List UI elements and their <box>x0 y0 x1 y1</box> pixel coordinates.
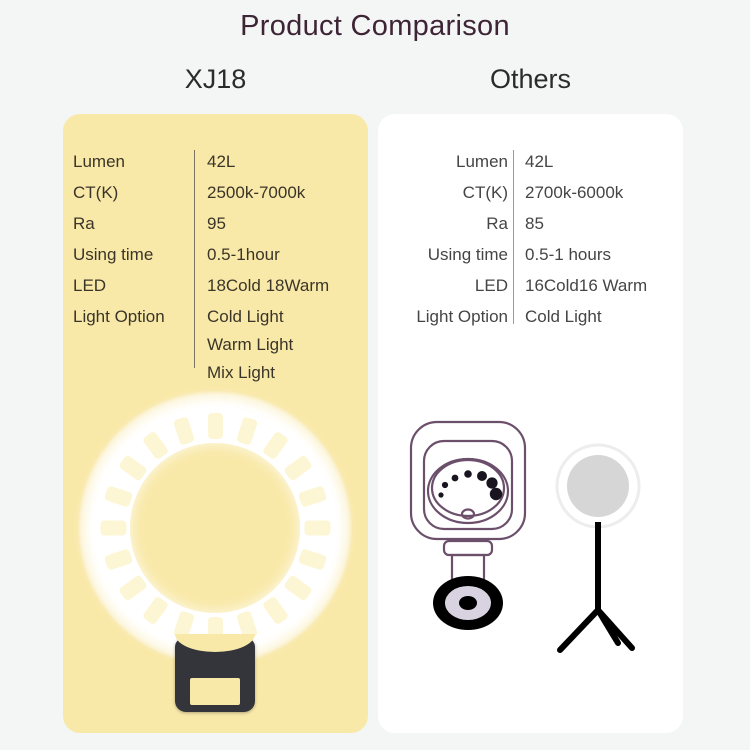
spec-row: LED 18Cold 18Warm <box>63 272 368 300</box>
phone-clip <box>175 638 255 712</box>
panel-others: Lumen 42L CT(K) 2700k-6000k Ra 85 Using … <box>378 114 683 733</box>
page-title: Product Comparison <box>0 10 750 43</box>
spec-value: 42L <box>508 148 553 176</box>
spec-row: Ra 95 <box>63 210 368 238</box>
spec-value: 0.5-1hour <box>193 241 280 269</box>
spec-label: CT(K) <box>378 179 508 207</box>
spec-label: Using time <box>378 241 508 269</box>
ring-inner-window <box>130 443 300 613</box>
spec-label: Lumen <box>63 148 193 176</box>
spec-value: Cold Light <box>508 303 602 331</box>
spec-value: 2500k-7000k <box>193 179 305 207</box>
spec-label: LED <box>63 272 193 300</box>
spec-label: Ra <box>63 210 193 238</box>
spec-value: 18Cold 18Warm <box>193 272 329 300</box>
spec-row: LED 16Cold16 Warm <box>378 272 683 300</box>
spec-value: 2700k-6000k <box>508 179 623 207</box>
spec-value: 95 <box>193 210 226 238</box>
panel-xj18: Lumen 42L CT(K) 2500k-7000k Ra 95 Using … <box>63 114 368 733</box>
spec-row: Lumen 42L <box>63 148 368 176</box>
led-segment <box>208 413 223 439</box>
ring-light-product-image <box>79 392 351 664</box>
spec-value: 0.5-1 hours <box>508 241 611 269</box>
spec-value: 16Cold16 Warm <box>508 272 647 300</box>
spec-row: CT(K) 2700k-6000k <box>378 179 683 207</box>
spec-row: Light Option Cold Light Warm Light Mix L… <box>63 303 368 387</box>
spec-label: Using time <box>63 241 193 269</box>
column-header-xj18: XJ18 <box>63 64 368 95</box>
spec-label: Lumen <box>378 148 508 176</box>
spec-label: LED <box>378 272 508 300</box>
spec-row: Using time 0.5-1hour <box>63 241 368 269</box>
infographic-canvas: Product Comparison XJ18 Others Lumen 42L… <box>0 0 750 750</box>
spec-row: Light Option Cold Light <box>378 303 683 331</box>
led-segment <box>304 521 330 536</box>
clip-notch <box>175 634 255 652</box>
column-header-others: Others <box>378 64 683 95</box>
spec-value: 42L <box>193 148 235 176</box>
spec-row: Ra 85 <box>378 210 683 238</box>
spec-label: Light Option <box>378 303 508 331</box>
led-segment <box>100 521 126 536</box>
spec-label: Light Option <box>63 303 193 331</box>
spec-row: CT(K) 2500k-7000k <box>63 179 368 207</box>
spec-row: Using time 0.5-1 hours <box>378 241 683 269</box>
spec-table-xj18: Lumen 42L CT(K) 2500k-7000k Ra 95 Using … <box>63 148 368 390</box>
spec-value: 85 <box>508 210 544 238</box>
clip-cutout <box>190 678 240 705</box>
spec-label: Ra <box>378 210 508 238</box>
spec-table-others: Lumen 42L CT(K) 2700k-6000k Ra 85 Using … <box>378 148 683 334</box>
spec-value: Cold Light Warm Light Mix Light <box>193 303 293 387</box>
spec-row: Lumen 42L <box>378 148 683 176</box>
competitor-tripod-ringlight-image <box>528 434 668 664</box>
spec-label: CT(K) <box>63 179 193 207</box>
